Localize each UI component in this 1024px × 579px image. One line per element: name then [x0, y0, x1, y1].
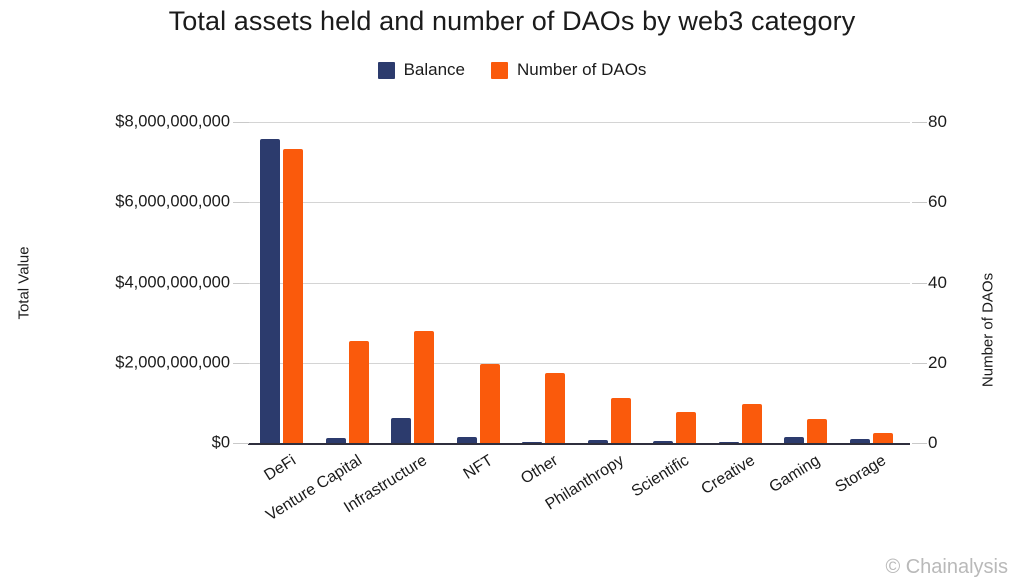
bar-number-of-daos[interactable]: [873, 433, 893, 443]
plot-area: [255, 122, 910, 443]
bar-number-of-daos[interactable]: [676, 412, 696, 443]
y-axis-right-tick-label: 80: [928, 112, 947, 132]
bar-number-of-daos[interactable]: [480, 364, 500, 443]
y-axis-left-title: Total Value: [16, 246, 33, 319]
x-axis-tick-label: Storage: [832, 452, 889, 497]
y-axis-right-tick-label: 0: [928, 433, 937, 453]
y-axis-left-tick-mark: [233, 443, 249, 444]
y-axis-right-tick-mark: [912, 202, 927, 203]
y-axis-right-tick-mark: [912, 443, 927, 444]
gridline: [248, 283, 910, 284]
chart-title: Total assets held and number of DAOs by …: [0, 6, 1024, 37]
bar-number-of-daos[interactable]: [611, 398, 631, 443]
y-axis-right-title: Number of DAOs: [980, 273, 997, 387]
bar-number-of-daos[interactable]: [545, 373, 565, 443]
watermark: © Chainalysis: [885, 556, 1008, 579]
y-axis-right-tick-label: 60: [928, 192, 947, 212]
y-axis-left-tick-mark: [233, 283, 249, 284]
y-axis-right-tick-mark: [912, 283, 927, 284]
y-axis-right-tick-mark: [912, 122, 927, 123]
y-axis-left-tick-label: $4,000,000,000: [115, 273, 230, 292]
bar-balance[interactable]: [784, 437, 804, 443]
x-axis-tick-label: DeFi: [261, 452, 299, 485]
bar-number-of-daos[interactable]: [742, 404, 762, 443]
gridline: [248, 363, 910, 364]
x-axis-tick-label: Creative: [698, 452, 758, 499]
legend-label-balance: Balance: [404, 60, 465, 80]
y-axis-left-tick-label: $2,000,000,000: [115, 353, 230, 372]
bar-balance[interactable]: [326, 438, 346, 443]
gridline: [248, 122, 910, 123]
bar-balance[interactable]: [260, 139, 280, 443]
y-axis-left-tick-label: $8,000,000,000: [115, 113, 230, 132]
bar-number-of-daos[interactable]: [349, 341, 369, 443]
x-axis-baseline: [248, 443, 910, 445]
x-axis-tick-label: Gaming: [766, 452, 823, 497]
bar-balance[interactable]: [522, 442, 542, 443]
chart-legend: Balance Number of DAOs: [0, 60, 1024, 80]
y-axis-left-tick-mark: [233, 363, 249, 364]
y-axis-right-tick-label: 20: [928, 353, 947, 373]
bar-number-of-daos[interactable]: [807, 419, 827, 443]
bar-balance[interactable]: [457, 437, 477, 443]
legend-label-number-of-daos: Number of DAOs: [517, 60, 646, 80]
legend-item-number-of-daos[interactable]: Number of DAOs: [491, 60, 646, 80]
legend-swatch-number-of-daos: [491, 62, 508, 79]
bar-balance[interactable]: [588, 440, 608, 443]
x-axis-tick-label: NFT: [460, 452, 496, 484]
bar-balance[interactable]: [653, 441, 673, 443]
gridline: [248, 202, 910, 203]
legend-item-balance[interactable]: Balance: [378, 60, 465, 80]
y-axis-left-tick-label: $6,000,000,000: [115, 193, 230, 212]
x-axis-tick-label: Scientific: [629, 452, 693, 501]
x-axis-tick-label: Other: [518, 452, 561, 488]
bar-balance[interactable]: [719, 442, 739, 443]
bar-number-of-daos[interactable]: [414, 331, 434, 443]
bar-balance[interactable]: [391, 418, 411, 443]
y-axis-left-tick-mark: [233, 122, 249, 123]
chart-container: Total assets held and number of DAOs by …: [0, 0, 1024, 573]
y-axis-right-tick-mark: [912, 363, 927, 364]
legend-swatch-balance: [378, 62, 395, 79]
bar-balance[interactable]: [850, 439, 870, 443]
y-axis-left-tick-mark: [233, 202, 249, 203]
y-axis-right-tick-label: 40: [928, 273, 947, 293]
y-axis-left-tick-label: $0: [212, 434, 230, 453]
bar-number-of-daos[interactable]: [283, 149, 303, 443]
